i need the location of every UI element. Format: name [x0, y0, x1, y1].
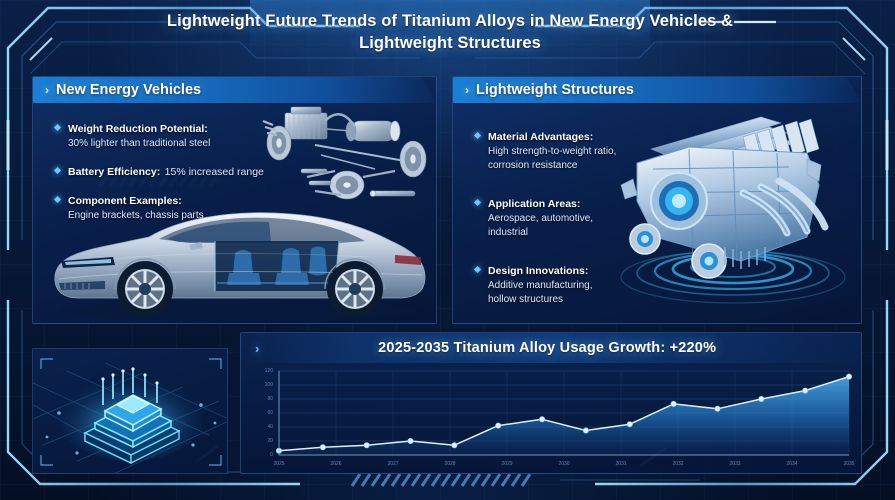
- growth-line-chart: [241, 363, 862, 474]
- x-axis-tick-label: 2029: [491, 461, 523, 467]
- chart-data-point: [452, 443, 457, 448]
- y-axis-tick-label: 40: [245, 424, 273, 430]
- bullet-heading: Component Examples:: [68, 195, 182, 207]
- chart-data-point: [846, 374, 851, 379]
- bullet-item: Application Areas: Aerospace, automotive…: [475, 194, 683, 239]
- chart-data-point: [583, 428, 588, 433]
- bullet-heading: Design Innovations:: [488, 265, 588, 277]
- panel-title-new-energy-vehicles: New Energy Vehicles: [56, 82, 201, 98]
- bullet-item: Battery Efficiency: 15% increased range: [55, 162, 436, 180]
- y-axis-tick-label: 60: [245, 410, 273, 416]
- x-axis-tick-label: 2028: [434, 461, 466, 467]
- y-axis-tick-label: 100: [245, 382, 273, 388]
- bullet-list-new-energy-vehicles: Weight Reduction Potential: 30% lighter …: [33, 103, 436, 222]
- y-axis-tick-label: 80: [245, 396, 273, 402]
- x-axis-tick-label: 2032: [662, 461, 694, 467]
- x-axis-tick-label: 2031: [605, 461, 637, 467]
- bullet-heading: Application Areas:: [488, 198, 580, 210]
- bullet-diamond-icon: [474, 132, 481, 139]
- bullet-item: Weight Reduction Potential: 30% lighter …: [55, 119, 436, 151]
- chip-hologram-panel: [32, 348, 228, 474]
- panel-header-new-energy-vehicles: › New Energy Vehicles: [33, 77, 436, 103]
- bullet-subtext: High strength-to-weight ratio, corrosion…: [488, 145, 638, 172]
- chevron-right-icon: ›: [465, 83, 469, 97]
- chart-data-point: [803, 388, 808, 393]
- bullet-item: Design Innovations: Additive manufacturi…: [475, 261, 683, 306]
- bullet-list-lightweight-structures: Material Advantages: High strength-to-we…: [453, 103, 683, 306]
- chart-plot-area: 020406080100120 202520262027202820292030…: [241, 363, 861, 473]
- bullet-diamond-icon: [474, 199, 481, 206]
- bullet-diamond-icon: [54, 124, 61, 131]
- bullet-heading: Material Advantages:: [488, 131, 593, 143]
- x-axis-tick-label: 2030: [548, 461, 580, 467]
- y-axis-tick-label: 120: [245, 368, 273, 374]
- y-axis-tick-label: 0: [245, 452, 273, 458]
- chevron-right-icon: ›: [45, 83, 49, 97]
- panel-title-lightweight-structures: Lightweight Structures: [476, 82, 634, 98]
- panel-lightweight-structures: › Lightweight Structures: [452, 76, 862, 324]
- x-axis-tick-label: 2035: [833, 461, 862, 467]
- chart-data-point: [627, 422, 632, 427]
- x-axis-tick-label: 2027: [377, 461, 409, 467]
- panel-new-energy-vehicles: › New Energy Vehicles: [32, 76, 437, 324]
- page-title: Lightweight Future Trends of Titanium Al…: [150, 10, 750, 55]
- bullet-item: Material Advantages: High strength-to-we…: [475, 127, 683, 172]
- chart-data-point: [715, 406, 720, 411]
- chart-data-point: [539, 417, 544, 422]
- holographic-chip-stack: [33, 349, 228, 474]
- chart-header: › 2025-2035 Titanium Alloy Usage Growth:…: [241, 333, 861, 363]
- bullet-subtext: 30% lighter than traditional steel: [68, 137, 436, 151]
- bullet-item: Component Examples: Engine brackets, cha…: [55, 191, 436, 223]
- bullet-heading: Battery Efficiency:: [68, 166, 160, 178]
- bullet-subtext: Additive manufacturing, hollow structure…: [488, 279, 608, 306]
- chart-data-point: [320, 445, 325, 450]
- chart-panel: › 2025-2035 Titanium Alloy Usage Growth:…: [240, 332, 862, 474]
- x-axis-tick-label: 2033: [719, 461, 751, 467]
- bullet-subtext: Aerospace, automotive, industrial: [488, 212, 608, 239]
- bullet-subtext: Engine brackets, chassis parts: [68, 209, 436, 223]
- bullet-diamond-icon: [54, 196, 61, 203]
- chart-title: 2025-2035 Titanium Alloy Usage Growth: +…: [259, 340, 861, 356]
- chart-data-point: [408, 438, 413, 443]
- panel-header-lightweight-structures: › Lightweight Structures: [453, 77, 861, 103]
- x-axis-tick-label: 2025: [263, 461, 295, 467]
- bullet-diamond-icon: [54, 167, 61, 174]
- y-axis-tick-label: 20: [245, 438, 273, 444]
- infographic-canvas: Lightweight Future Trends of Titanium Al…: [0, 0, 895, 500]
- x-axis-tick-label: 2026: [320, 461, 352, 467]
- chart-data-point: [364, 443, 369, 448]
- x-axis-tick-label: 2034: [776, 461, 808, 467]
- bullet-subtext: 15% increased range: [165, 166, 264, 178]
- bullet-heading: Weight Reduction Potential:: [68, 123, 208, 135]
- chart-data-point: [759, 396, 764, 401]
- chart-data-point: [671, 401, 676, 406]
- chart-data-point: [496, 423, 501, 428]
- bullet-diamond-icon: [474, 266, 481, 273]
